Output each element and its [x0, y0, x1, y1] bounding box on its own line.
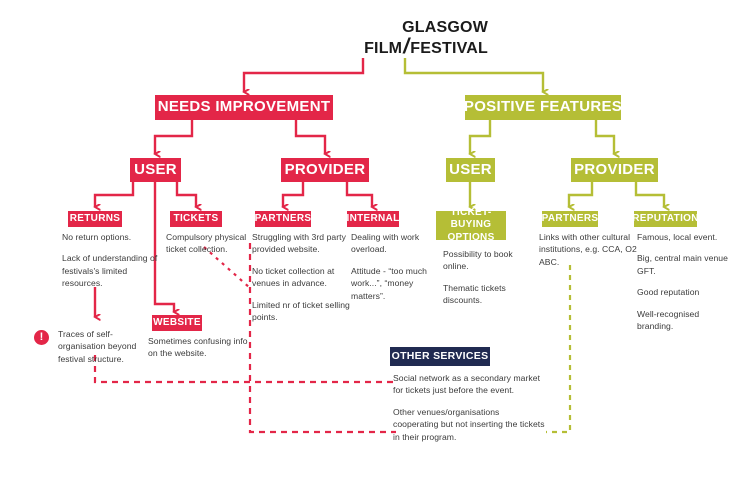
tickets-text-block: Compulsory physical ticket collection.	[166, 231, 264, 256]
reputation-item-0: Famous, local event.	[637, 231, 733, 243]
node-returns[interactable]: RETURNS	[68, 211, 122, 227]
exclamation-icon: !	[34, 330, 49, 345]
red-partners-item-1: No ticket collection at venues in advanc…	[252, 265, 354, 290]
node-needs-improvement[interactable]: NEEDS IMPROVEMENT	[155, 95, 333, 120]
returns-item-0: No return options.	[62, 231, 160, 243]
ticket-buying-text-block: Possibility to book online. Thematic tic…	[443, 248, 539, 307]
internal-item-0: Dealing with work overload.	[351, 231, 441, 256]
other-services-text-block: Social network as a secondary market for…	[393, 372, 545, 443]
red-partners-item-0: Struggling with 3rd party provided websi…	[252, 231, 354, 256]
website-text-block: Sometimes confusing info on the website.	[148, 335, 248, 360]
internal-text-block: Dealing with work overload. Attitude - “…	[351, 231, 441, 302]
title-festival: FESTIVAL	[410, 40, 488, 57]
ticket-buying-label-1: TICKET-BUYING	[436, 207, 506, 232]
red-partners-item-2: Limited nr of ticket selling points.	[252, 299, 354, 324]
node-red-partners[interactable]: PARTNERS	[255, 211, 311, 227]
green-wire-group	[405, 58, 664, 207]
node-internal[interactable]: INTERNAL	[347, 211, 399, 227]
node-website[interactable]: WEBSITE	[152, 315, 202, 331]
node-tickets[interactable]: TICKETS	[170, 211, 222, 227]
node-other-services[interactable]: OTHER SERVICES	[390, 347, 490, 366]
reputation-item-3: Well-recognised branding.	[637, 308, 733, 333]
reputation-item-1: Big, central main venue GFT.	[637, 252, 733, 277]
green-dashed-group	[546, 265, 570, 432]
reputation-item-2: Good reputation	[637, 286, 733, 298]
page-title: GLASGOW FILM/FESTIVAL	[318, 18, 488, 58]
tickets-item-0: Compulsory physical ticket collection.	[166, 231, 264, 256]
ticket-buying-item-0: Possibility to book online.	[443, 248, 539, 273]
node-green-user[interactable]: USER	[446, 158, 495, 182]
returns-item-2: Traces of self-organisation beyond festi…	[58, 328, 154, 365]
ticket-buying-label-2: OPTIONS	[436, 232, 506, 245]
node-ticket-buying-options[interactable]: TICKET-BUYING OPTIONS	[436, 211, 506, 240]
returns-item-1: Lack of understanding of festivals's lim…	[62, 252, 160, 289]
ticket-buying-item-1: Thematic tickets discounts.	[443, 282, 539, 307]
node-red-provider[interactable]: PROVIDER	[281, 158, 369, 182]
node-green-partners[interactable]: PARTNERS	[542, 211, 598, 227]
green-partners-item-0: Links with other cultural institutions, …	[539, 231, 637, 268]
internal-item-1: Attitude - “too much work...”, “money ma…	[351, 265, 441, 302]
green-partners-text-block: Links with other cultural institutions, …	[539, 231, 637, 268]
other-services-item-0: Social network as a secondary market for…	[393, 372, 545, 397]
other-services-item-1: Other venues/organisations cooperating b…	[393, 406, 545, 443]
reputation-text-block: Famous, local event. Big, central main v…	[637, 231, 733, 332]
returns-trace-text: Traces of self-organisation beyond festi…	[58, 328, 154, 365]
diagram-canvas: GLASGOW FILM/FESTIVAL NEEDS IMPROVEMENT …	[0, 0, 750, 479]
title-line-2: FILM/FESTIVAL	[318, 37, 488, 58]
node-reputation[interactable]: REPUTATION	[634, 211, 697, 227]
website-item-0: Sometimes confusing info on the website.	[148, 335, 248, 360]
node-positive-features[interactable]: POSITIVE FEATURES	[465, 95, 621, 120]
returns-text-block: No return options. Lack of understanding…	[62, 231, 160, 290]
title-film: FILM	[364, 40, 402, 57]
node-red-user[interactable]: USER	[130, 158, 181, 182]
red-partners-text-block: Struggling with 3rd party provided websi…	[252, 231, 354, 323]
node-green-provider[interactable]: PROVIDER	[571, 158, 658, 182]
